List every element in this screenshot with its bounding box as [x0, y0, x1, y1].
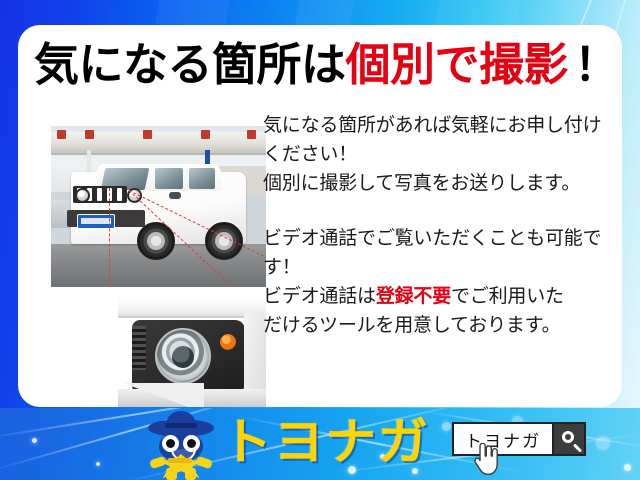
body-copy: 気になる箇所があれば気軽にお申し付け ください！ 個別に撮影して写真をお送りしま…	[263, 111, 611, 340]
copy-line-4: ビデオ通話でご覧いただくことも可能で	[263, 224, 611, 253]
rear-wheel	[205, 222, 243, 260]
copy-line-2: ください！	[263, 140, 611, 169]
mascot-hat-band	[165, 423, 197, 428]
content-panel: 気になる箇所は 個別で撮影 ！	[18, 25, 622, 407]
page-title-red: 個別で撮影	[346, 42, 569, 87]
suv-front-photo	[51, 126, 266, 287]
canopy-flag	[201, 130, 210, 139]
search-icon	[562, 431, 574, 443]
mascot-leg-right	[185, 468, 196, 480]
left-headlight	[75, 188, 90, 203]
toyonaga-mascot	[146, 410, 216, 476]
callout-line-vertical	[109, 188, 110, 287]
search-input[interactable]: トヨナガ	[452, 422, 552, 456]
page-title-black-1: 気になる箇所は	[34, 42, 346, 87]
copy-line-6-post: でご利用いた	[451, 285, 564, 307]
copy-line-1: 気になる箇所があれば気軽にお申し付け	[263, 111, 611, 140]
promo-image-canvas: 気になる箇所は 個別で撮影 ！	[0, 0, 640, 480]
copy-line-3: 個別に撮影して写真をお送りします。	[263, 169, 611, 198]
copy-line-6-pre: ビデオ通話は	[263, 285, 376, 307]
copy-line-6: ビデオ通話は登録不要でご利用いた	[263, 282, 611, 311]
banner-dot	[32, 438, 37, 443]
page-title: 気になる箇所は 個別で撮影 ！	[34, 33, 618, 95]
side-mirror	[169, 192, 181, 199]
grille-vent	[132, 326, 146, 370]
brand-wordmark: トヨナガ	[222, 413, 430, 471]
front-side-window	[155, 168, 183, 189]
copy-line-5: す！	[263, 253, 611, 282]
turn-signal-lamp	[218, 332, 238, 352]
round-headlamp	[155, 328, 211, 384]
mascot-belt	[168, 458, 192, 463]
copy-line-7: だけるツールを用意しております。	[263, 311, 611, 340]
headlight-closeup-photo	[118, 297, 266, 407]
headlight-bezel	[132, 320, 245, 392]
page-title-exclamation: ！	[568, 42, 619, 87]
rear-side-window	[189, 168, 215, 189]
search-icon-handle	[573, 443, 582, 452]
search-button[interactable]	[552, 422, 586, 456]
hand-cursor-icon	[473, 443, 499, 475]
copy-line-6-highlight: 登録不要	[376, 285, 451, 307]
canopy-flag	[85, 130, 94, 139]
banner-dot	[96, 462, 100, 466]
mascot-leg-left	[166, 468, 177, 480]
banner-dot	[624, 464, 631, 471]
banner-dot	[596, 436, 610, 450]
dealership-canopy	[51, 132, 266, 155]
banner-dot	[442, 422, 451, 431]
canopy-flag	[247, 130, 256, 139]
copy-spacer	[263, 198, 611, 224]
canopy-flag	[143, 130, 152, 139]
canopy-flag	[57, 130, 66, 139]
bumper-highlight	[126, 383, 204, 407]
